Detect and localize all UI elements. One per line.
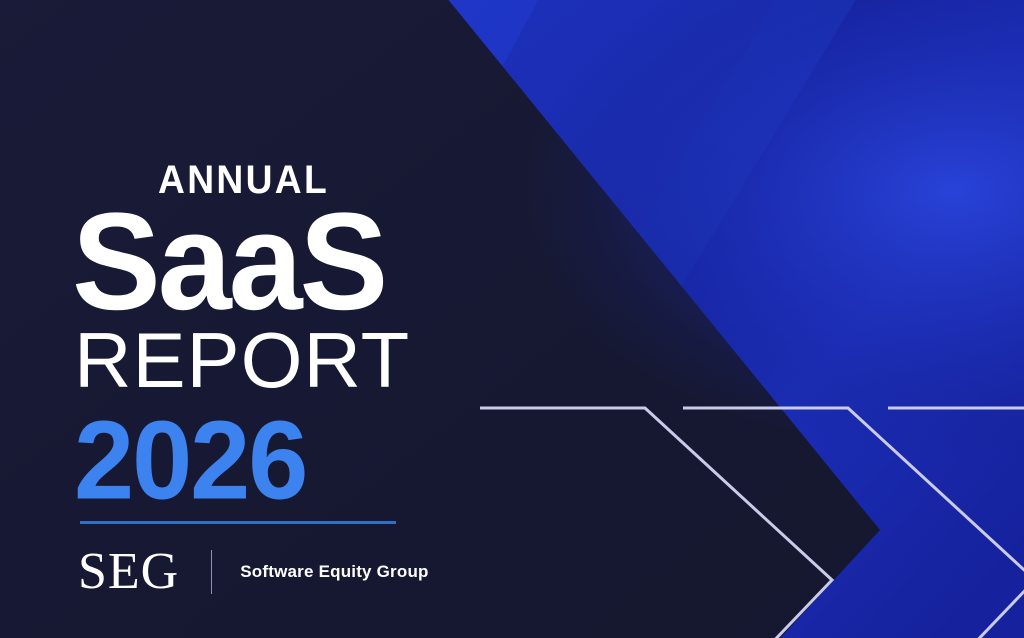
cover-subhead: REPORT xyxy=(74,320,500,400)
report-cover-canvas: ANNUAL SaaS REPORT 2026 SEG Software Equ… xyxy=(0,0,1024,638)
logo-divider-rule xyxy=(80,521,396,524)
seg-logo-lockup: SEG Software Equity Group xyxy=(78,546,429,598)
seg-logo-mark: SEG xyxy=(78,546,179,598)
cover-headline: SaaS xyxy=(72,202,509,323)
cover-year: 2026 xyxy=(74,408,500,513)
cover-title-block: ANNUAL SaaS REPORT 2026 xyxy=(72,160,492,508)
seg-logo-wordmark: Software Equity Group xyxy=(240,562,428,582)
logo-vertical-separator xyxy=(211,550,212,594)
